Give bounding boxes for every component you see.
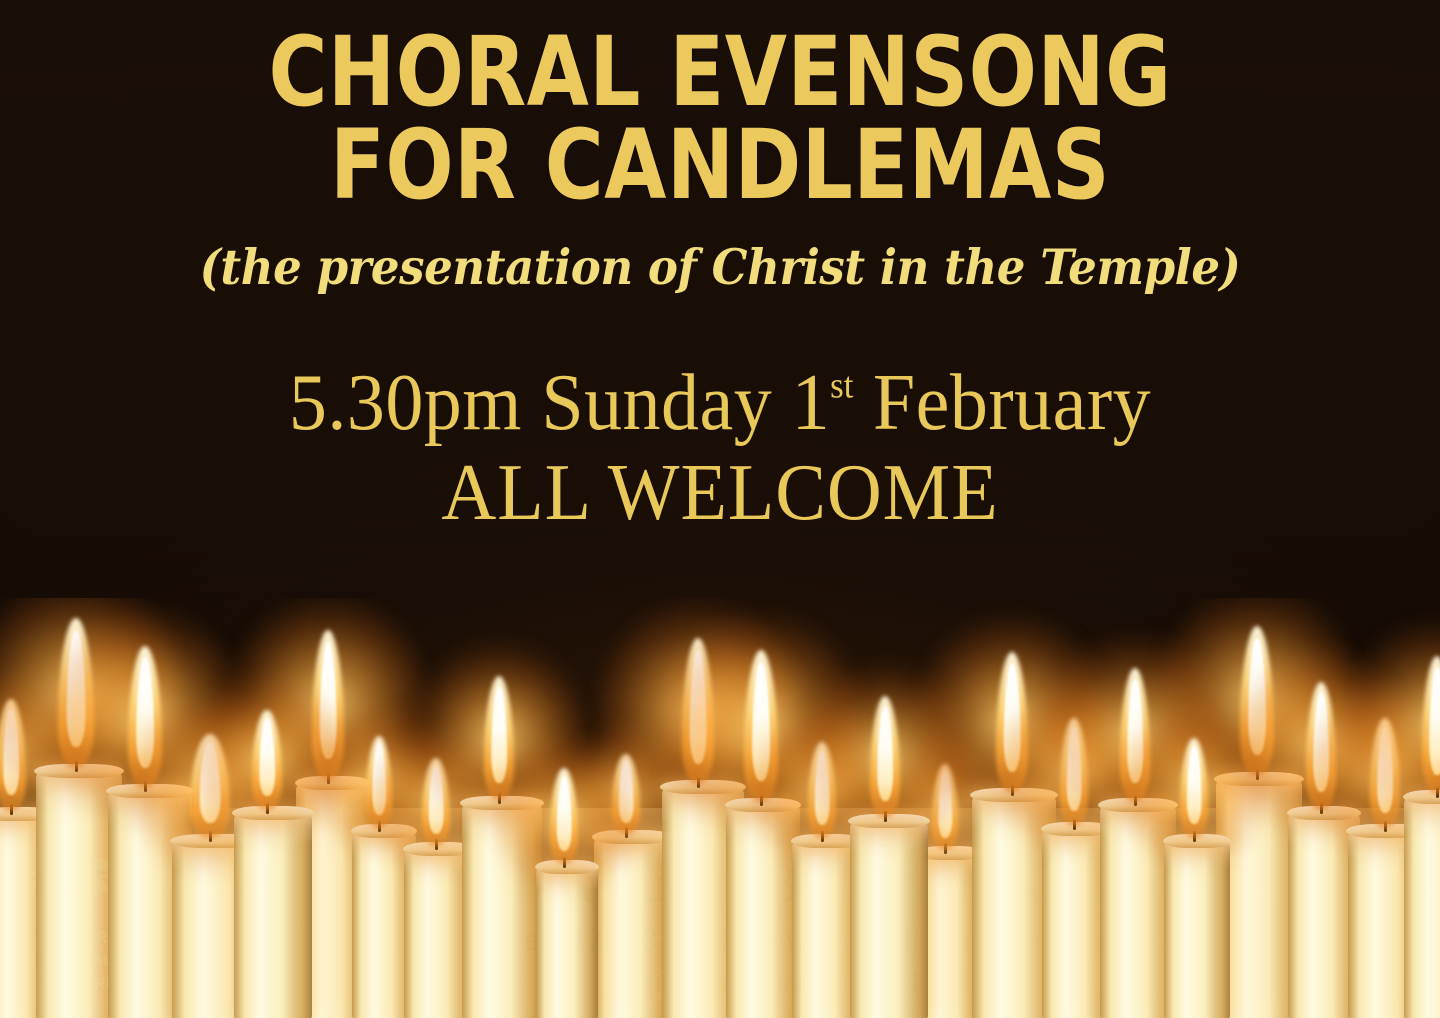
candle-flame <box>550 768 578 864</box>
candle-flame <box>1422 656 1440 794</box>
candle <box>536 866 598 1018</box>
title-line-2: FOR CANDLEMAS <box>50 119 1389 212</box>
candle-flame <box>252 710 282 810</box>
candle <box>850 820 928 1018</box>
title-line-1: CHORAL EVENSONG <box>50 26 1389 119</box>
candle <box>1164 840 1230 1018</box>
service-time-ordinal: st <box>830 364 853 405</box>
candle-flame <box>870 696 900 818</box>
headline-subtitle: (the presentation of Christ in the Templ… <box>58 238 1383 296</box>
service-time-suffix: February <box>853 359 1151 447</box>
service-time-prefix: 5.30pm Sunday 1 <box>289 359 830 447</box>
poster-canvas: CHORAL EVENSONG FOR CANDLEMAS (the prese… <box>0 0 1440 1018</box>
service-time-line: 5.30pm Sunday 1st February <box>36 363 1404 445</box>
service-details-block: 5.30pm Sunday 1st February ALL WELCOME <box>0 363 1440 534</box>
candle <box>234 812 312 1018</box>
candle-field <box>0 598 1440 1018</box>
all-welcome-line: ALL WELCOME <box>36 453 1404 535</box>
candle <box>1404 796 1440 1018</box>
headline-block: CHORAL EVENSONG FOR CANDLEMAS (the prese… <box>0 26 1440 296</box>
candle-flame <box>1180 738 1208 838</box>
